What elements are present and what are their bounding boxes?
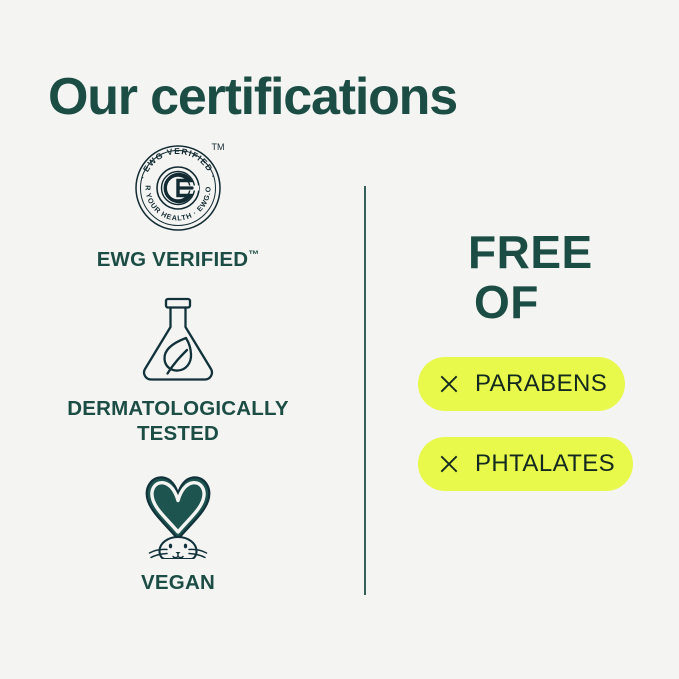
certifications-panel: Our certifications · EWG VERIFIED · bbox=[0, 0, 679, 679]
svg-text:TM: TM bbox=[212, 142, 225, 152]
certification-label: DERMATOLOGICALLY TESTED bbox=[67, 396, 289, 447]
trademark-symbol: ™ bbox=[248, 249, 259, 261]
certification-label: VEGAN bbox=[141, 570, 215, 596]
free-of-panel: FREE OF PARABENS PHTALATES bbox=[400, 228, 662, 491]
certification-label: EWG VERIFIED™ bbox=[97, 247, 260, 273]
ewg-label-text: EWG VERIFIED bbox=[97, 248, 249, 271]
free-of-item-label: PHTALATES bbox=[475, 450, 615, 478]
page-title: Our certifications bbox=[48, 69, 457, 126]
free-of-item-phtalates: PHTALATES bbox=[418, 437, 633, 491]
certification-dermatologically-tested: DERMATOLOGICALLY TESTED bbox=[18, 293, 338, 447]
certification-ewg-verified: · EWG VERIFIED · FOR YOUR HEALTH · EWG.O… bbox=[18, 132, 338, 273]
x-mark-icon bbox=[440, 455, 458, 473]
flask-leaf-icon bbox=[126, 293, 230, 385]
x-mark-icon bbox=[440, 375, 458, 393]
derm-label-line1: DERMATOLOGICALLY bbox=[67, 396, 289, 422]
free-of-line2: OF bbox=[468, 278, 662, 328]
bunny-heart-ears-icon bbox=[122, 467, 234, 559]
ewg-verified-seal-icon: · EWG VERIFIED · FOR YOUR HEALTH · EWG.O… bbox=[124, 132, 232, 236]
free-of-item-label: PARABENS bbox=[475, 370, 607, 398]
free-of-list: PARABENS PHTALATES bbox=[400, 357, 662, 491]
vertical-divider bbox=[364, 186, 366, 595]
free-of-item-parabens: PARABENS bbox=[418, 357, 625, 411]
certifications-list: · EWG VERIFIED · FOR YOUR HEALTH · EWG.O… bbox=[18, 132, 338, 596]
derm-label-line2: TESTED bbox=[67, 421, 289, 447]
free-of-heading: FREE OF bbox=[400, 228, 662, 327]
certification-vegan: VEGAN bbox=[18, 467, 338, 596]
free-of-line1: FREE bbox=[468, 228, 662, 278]
